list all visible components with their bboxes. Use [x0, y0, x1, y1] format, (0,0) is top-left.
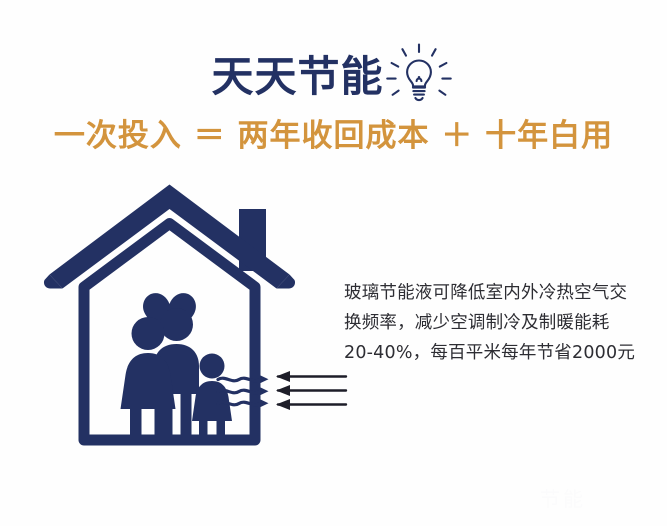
wavy-air-flow-arrowheads [259, 375, 269, 409]
incoming-straight-arrowheads [276, 371, 290, 410]
lightbulb-icon [382, 40, 456, 114]
body-line-1: 玻璃节能液可降低室内外冷热空气交 [344, 278, 656, 308]
poster-canvas: 天天节能 [0, 0, 667, 526]
watermark: 节能 [540, 486, 652, 512]
subtitle-formula: 一次投入 ＝ 两年收回成本 ＋ 十年白用 [0, 118, 667, 155]
body-line-2: 换频率，减少空调制冷及制暖能耗 [344, 308, 656, 338]
body-copy: 玻璃节能液可降低室内外冷热空气交 换频率，减少空调制冷及制暖能耗 20-40%，… [344, 278, 656, 368]
family-three-people-icon [121, 308, 233, 441]
page-title: 天天节能 [211, 56, 383, 98]
body-line-3: 20-40%，每百平米每年节省2000元 [344, 338, 656, 368]
title-row: 天天节能 [0, 46, 667, 108]
house-energy-saving-illustration [36, 176, 354, 456]
